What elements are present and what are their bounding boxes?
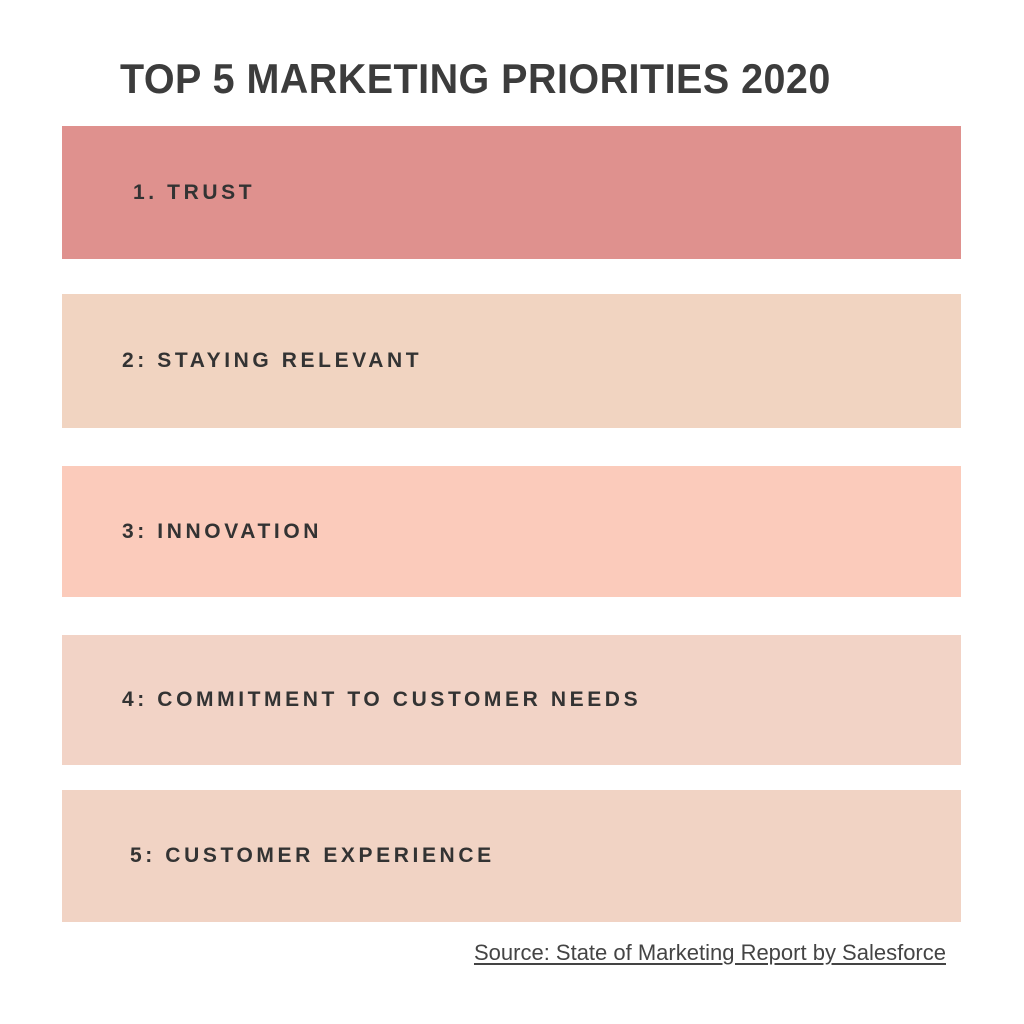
- priority-bar-5-label: 5: CUSTOMER EXPERIENCE: [130, 844, 495, 868]
- infographic-canvas: TOP 5 MARKETING PRIORITIES 2020 1. TRUST…: [0, 0, 1024, 1024]
- priority-bar-1-label: 1. TRUST: [133, 181, 255, 205]
- priority-bar-4: 4: COMMITMENT TO CUSTOMER NEEDS: [62, 635, 961, 765]
- priority-bar-2: 2: STAYING RELEVANT: [62, 294, 961, 428]
- priority-bar-4-label: 4: COMMITMENT TO CUSTOMER NEEDS: [122, 688, 641, 712]
- priority-bar-2-label: 2: STAYING RELEVANT: [122, 349, 422, 373]
- priority-bar-1: 1. TRUST: [62, 126, 961, 259]
- priority-bar-5: 5: CUSTOMER EXPERIENCE: [62, 790, 961, 922]
- priority-bar-3-label: 3: INNOVATION: [122, 520, 322, 544]
- priority-bar-3: 3: INNOVATION: [62, 466, 961, 597]
- priority-bar-list: 1. TRUST 2: STAYING RELEVANT 3: INNOVATI…: [62, 126, 961, 922]
- source-citation: Source: State of Marketing Report by Sal…: [474, 938, 946, 968]
- page-title: TOP 5 MARKETING PRIORITIES 2020: [120, 54, 928, 104]
